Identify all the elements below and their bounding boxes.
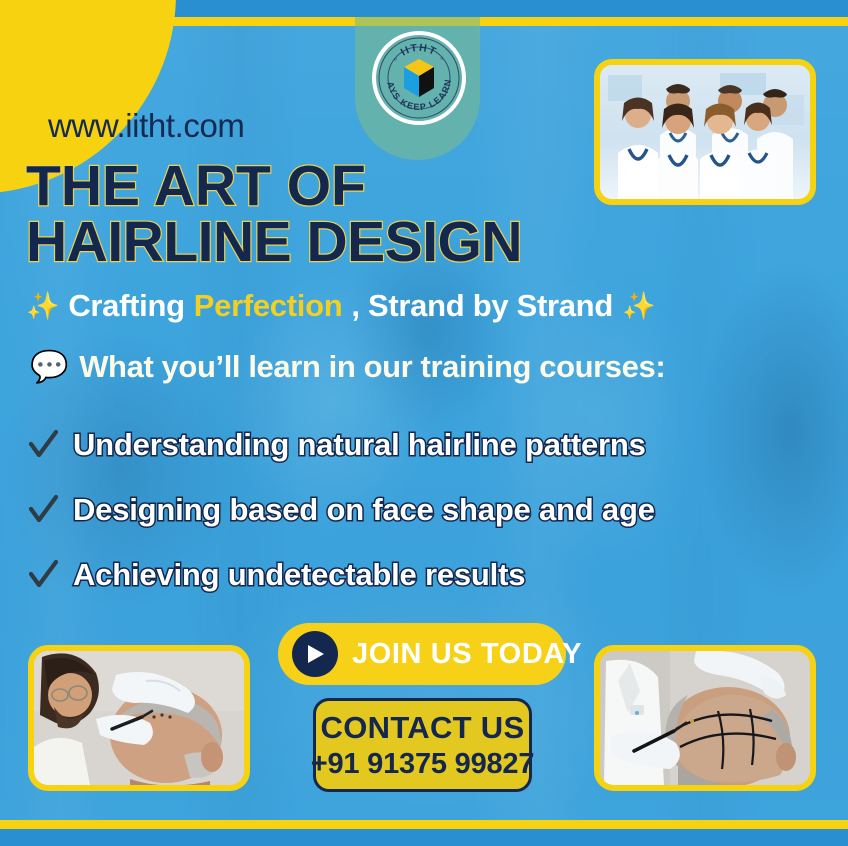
- join-us-today-label: JOIN US TODAY: [352, 638, 582, 671]
- medical-team-photo: [594, 59, 816, 205]
- play-icon[interactable]: [292, 631, 338, 677]
- list-item: Designing based on face shape and age: [28, 477, 808, 542]
- list-item-label: Understanding natural hairline patterns: [73, 427, 646, 463]
- bottom-yellow-bar: [0, 820, 848, 829]
- website-url: www.iitht.com: [48, 107, 245, 145]
- question-text: What you’ll learn in our training course…: [79, 349, 665, 385]
- hairline-marking-photo-right: [594, 645, 816, 791]
- sparkle-icon-right: ✨: [622, 293, 655, 320]
- doctor-marking-illustration: [34, 651, 244, 785]
- tagline-part-1: Crafting: [68, 288, 184, 324]
- contact-us-button[interactable]: CONTACT US +91 91375 99827: [313, 698, 532, 792]
- list-item-label: Designing based on face shape and age: [73, 492, 655, 528]
- list-item: Achieving undetectable results: [28, 542, 808, 607]
- list-item: Understanding natural hairline patterns: [28, 412, 808, 477]
- question-line: 💬 What you’ll learn in our training cour…: [30, 348, 665, 385]
- check-icon: [28, 493, 59, 527]
- tagline: ✨ Crafting Perfection, Strand by Strand …: [26, 288, 655, 324]
- tagline-highlight: Perfection: [194, 288, 343, 324]
- iitht-logo-badge: ◦ IITHT ◦ ALWAYS KEEP LEARNING: [372, 31, 466, 125]
- benefits-list: Understanding natural hairline patterns …: [28, 412, 808, 607]
- contact-phone-number[interactable]: +91 91375 99827: [311, 748, 535, 781]
- headline-line-2: HAIRLINE DESIGN: [26, 214, 816, 270]
- join-us-today-button[interactable]: JOIN US TODAY: [278, 623, 566, 685]
- hairline-design-illustration: [600, 651, 810, 785]
- play-triangle-icon: [305, 643, 325, 665]
- contact-us-label: CONTACT US: [321, 710, 525, 746]
- medical-team-illustration: [600, 65, 810, 199]
- poster-canvas: ◦ IITHT ◦ ALWAYS KEEP LEARNING www.iitht…: [0, 0, 848, 846]
- list-item-label: Achieving undetectable results: [73, 557, 525, 593]
- check-icon: [28, 428, 59, 462]
- sparkle-icon-left: ✨: [26, 293, 59, 320]
- logo-mark-icon: ◦ IITHT ◦ ALWAYS KEEP LEARNING: [376, 35, 462, 121]
- tagline-part-2: , Strand by Strand: [351, 288, 613, 324]
- hairline-marking-photo-left: [28, 645, 250, 791]
- check-icon: [28, 558, 59, 592]
- bottom-frame-strip: [0, 829, 848, 846]
- speech-bubble-icon: 💬: [30, 348, 68, 385]
